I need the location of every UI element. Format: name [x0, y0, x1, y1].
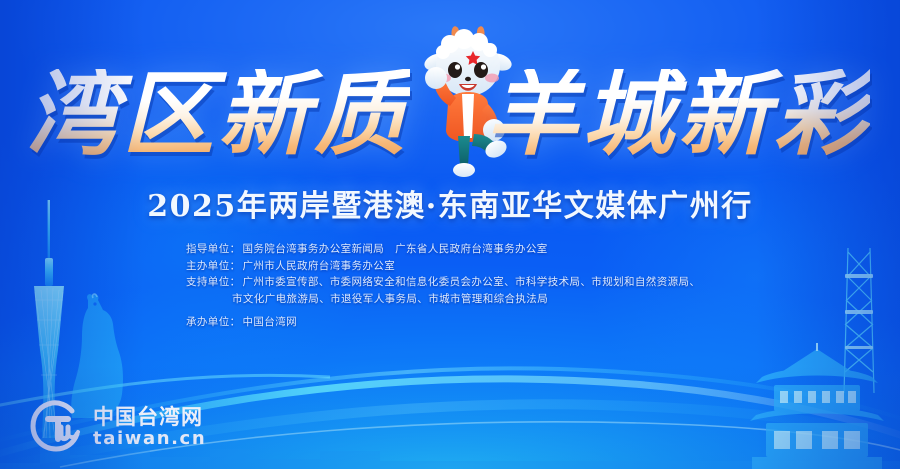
poster-banner: 湾区新质 羊城新彩 2025年两岸暨港澳·东南亚华文媒体广州行 指导单位：国务院… [0, 0, 900, 469]
background-vignette [0, 0, 900, 469]
